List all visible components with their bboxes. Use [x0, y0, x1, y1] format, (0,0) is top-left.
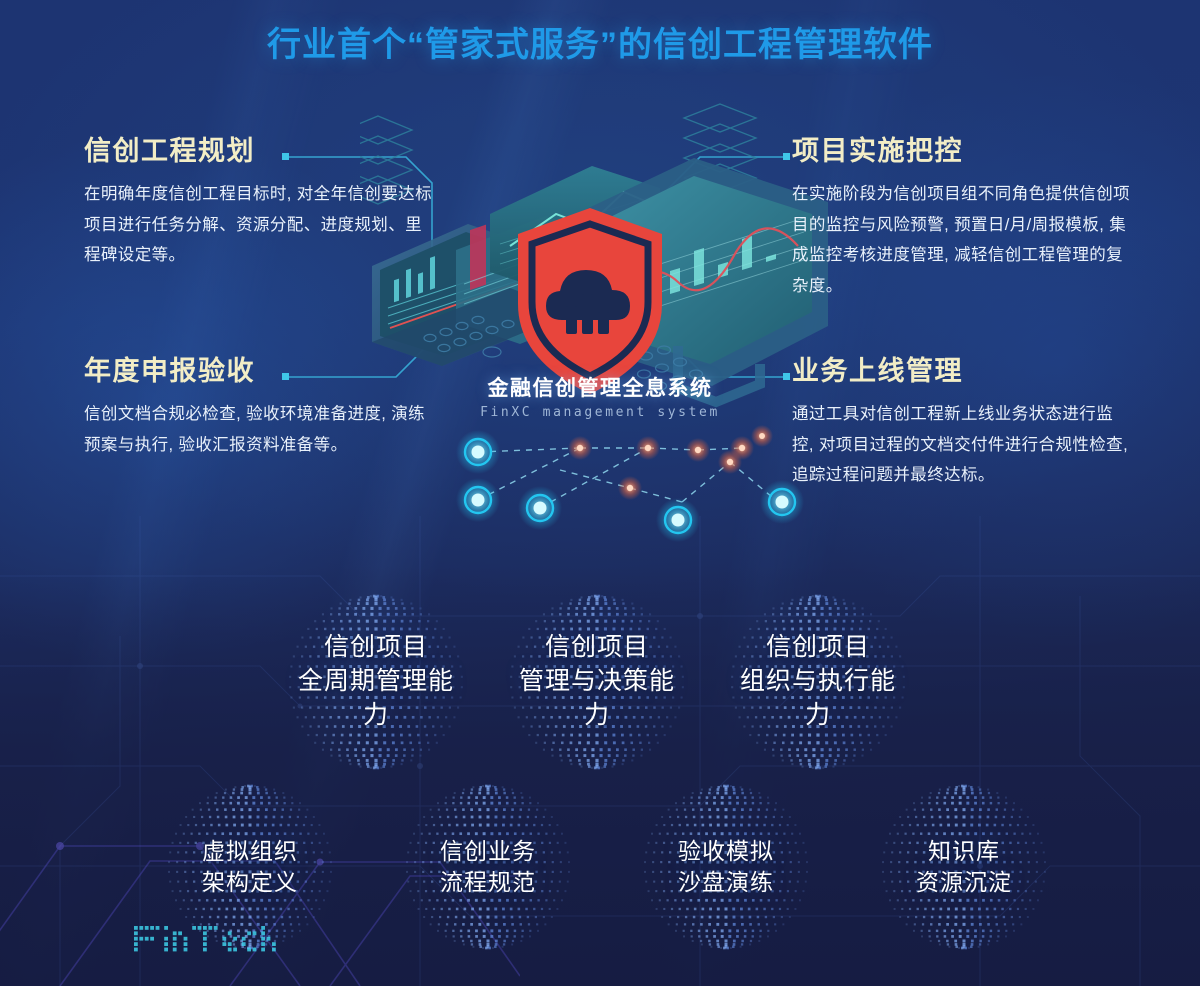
capability-sphere-decision: 信创项目 管理与决策能力: [509, 594, 685, 770]
module-sphere-process-spec-label: 信创业务 流程规范: [440, 836, 536, 898]
capability-sphere-execution-label: 信创项目 组织与执行能力: [730, 631, 906, 732]
feature-planning: 信创工程规划 在明确年度信创工程目标时, 对全年信创要达标项目进行任务分解、资源…: [84, 138, 432, 271]
module-sphere-knowledge-label: 知识库 资源沉淀: [916, 836, 1012, 898]
module-sphere-sandbox-label: 验收模拟 沙盘演练: [678, 836, 774, 898]
module-sphere-knowledge: 知识库 资源沉淀: [881, 784, 1047, 950]
module-sphere-process-spec: 信创业务 流程规范: [405, 784, 571, 950]
feature-implementation: 项目实施把控 在实施阶段为信创项目组不同角色提供信创项目的监控与风险预警, 预置…: [792, 138, 1134, 301]
capability-sphere-decision-label: 信创项目 管理与决策能力: [509, 631, 685, 732]
feature-planning-body: 在明确年度信创工程目标时, 对全年信创要达标项目进行任务分解、资源分配、进度规划…: [84, 179, 432, 271]
module-sphere-sandbox: 验收模拟 沙盘演练: [643, 784, 809, 950]
system-name-label: 金融信创管理全息系统 FinXC management system: [0, 372, 1200, 420]
feature-planning-heading: 信创工程规划: [84, 138, 432, 165]
capability-sphere-lifecycle-label: 信创项目 全周期管理能力: [288, 631, 464, 732]
poster-canvas: 行业首个“管家式服务”的信创工程管理软件: [0, 0, 1200, 986]
fintech-watermark: [130, 912, 360, 968]
spark-group: [568, 425, 773, 500]
module-sphere-virtual-org-label: 虚拟组织 架构定义: [202, 836, 298, 898]
network-node-graph: [430, 420, 830, 550]
feature-implementation-heading: 项目实施把控: [792, 138, 1134, 165]
capability-sphere-execution: 信创项目 组织与执行能力: [730, 594, 906, 770]
system-name-en: FinXC management system: [0, 405, 1200, 420]
page-title: 行业首个“管家式服务”的信创工程管理软件: [0, 17, 1200, 66]
feature-implementation-body: 在实施阶段为信创项目组不同角色提供信创项目的监控与风险预警, 预置日/月/周报模…: [792, 179, 1134, 301]
system-name-cn: 金融信创管理全息系统: [0, 372, 1200, 402]
capability-sphere-lifecycle: 信创项目 全周期管理能力: [288, 594, 464, 770]
shield-cloud-chart-icon: [518, 208, 662, 394]
